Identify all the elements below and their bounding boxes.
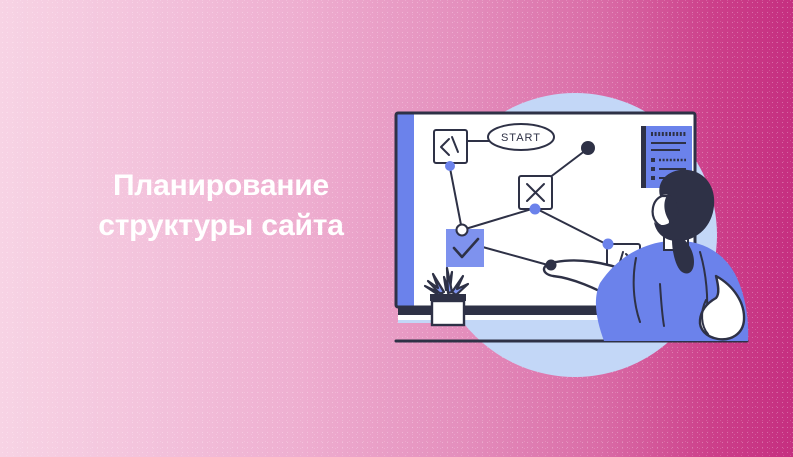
flowchart-node-check — [446, 225, 484, 268]
node-dot-check — [457, 225, 468, 236]
flowchart-node-start: START — [488, 124, 554, 150]
fingertip — [546, 260, 557, 271]
page-title: Планирование структуры сайта — [56, 166, 386, 246]
notes-card-spine — [641, 126, 646, 188]
node-dot-code-close — [603, 239, 614, 250]
node-dot-close-x — [530, 204, 541, 215]
flowchart-node-close-x — [519, 176, 552, 215]
flowchart-node-endpoint — [581, 141, 595, 155]
banner-root: START — [0, 0, 793, 457]
plant-pot-body — [432, 301, 464, 325]
node-dot-code-open — [445, 161, 455, 171]
start-node-label: START — [501, 132, 541, 144]
